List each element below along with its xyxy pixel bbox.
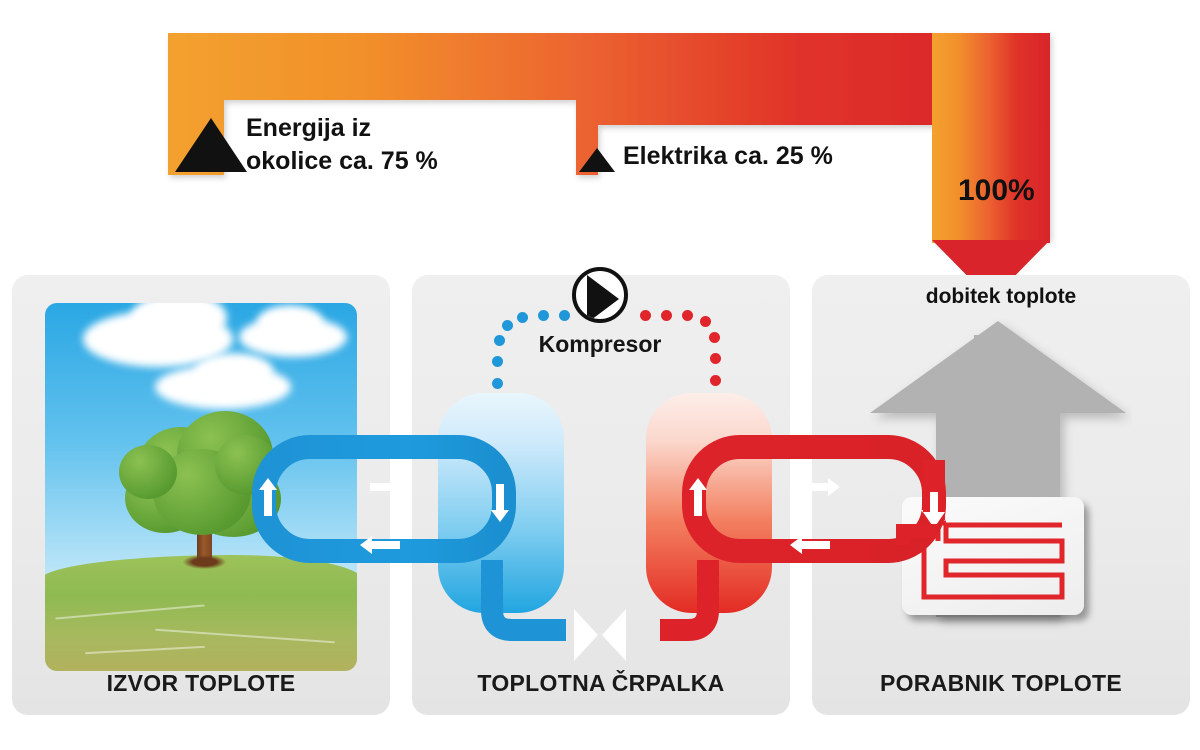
- hot-circuit: [660, 447, 945, 630]
- circuit-pipes: [0, 0, 1200, 750]
- cold-circuit: [259, 447, 566, 630]
- diagram-canvas: Energija iz okolice ca. 75 % Elektrika c…: [0, 0, 1200, 750]
